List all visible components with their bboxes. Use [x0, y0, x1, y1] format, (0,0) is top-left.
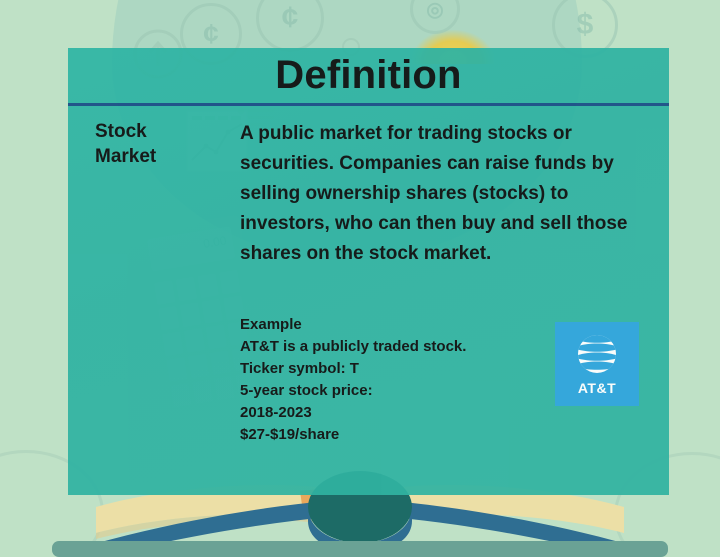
- att-globe-icon: [575, 332, 619, 376]
- example-line-3: 5-year stock price:: [240, 380, 570, 402]
- term-label: Stock Market: [95, 119, 213, 169]
- example-heading: Example: [240, 314, 570, 336]
- definition-text: A public market for trading stocks or se…: [240, 119, 650, 269]
- example-block: Example AT&T is a publicly traded stock.…: [240, 314, 570, 446]
- title-divider: [68, 103, 669, 106]
- att-logo: AT&T: [555, 322, 639, 406]
- example-line-1: AT&T is a publicly traded stock.: [240, 336, 570, 358]
- att-logo-text: AT&T: [578, 380, 616, 396]
- slide-canvas: ¢ ¢ ◎ $ 0.00: [0, 0, 720, 557]
- example-line-5: $27-$19/share: [240, 424, 570, 446]
- definition-card: Definition Stock Market A public market …: [68, 48, 669, 495]
- example-line-4: 2018-2023: [240, 402, 570, 424]
- example-line-2: Ticker symbol: T: [240, 358, 570, 380]
- card-title: Definition: [68, 53, 669, 98]
